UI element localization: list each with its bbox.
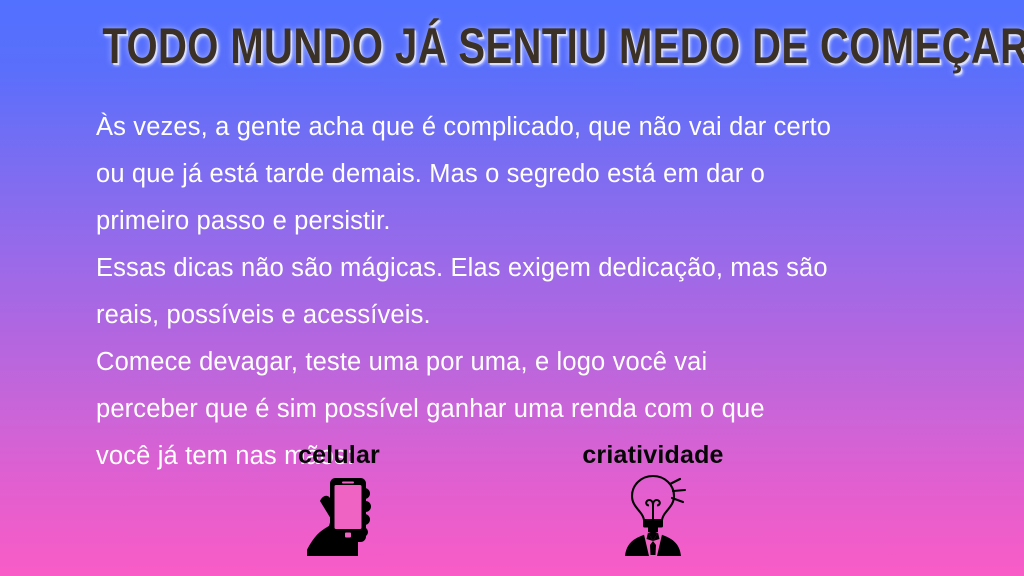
- body-line: perceber que é sim possível ganhar uma r…: [96, 386, 976, 433]
- body-copy: Às vezes, a gente acha que é complicado,…: [96, 104, 976, 480]
- icon-label-criatividade: criatividade: [533, 440, 773, 470]
- body-line: primeiro passo e persistir.: [96, 198, 976, 245]
- body-line: Comece devagar, teste uma por uma, e log…: [96, 339, 976, 386]
- body-line: Às vezes, a gente acha que é complicado,…: [96, 104, 976, 151]
- lightbulb-head-person-icon: [533, 474, 773, 564]
- icon-block-criatividade: criatividade: [533, 440, 773, 564]
- icon-label-celular: celular: [219, 440, 459, 470]
- icon-row: celular: [0, 440, 1024, 576]
- slide-canvas: TODO MUNDO JÁ SENTIU MEDO DE COMEÇAR. Às…: [0, 0, 1024, 576]
- body-line: ou que já está tarde demais. Mas o segre…: [96, 151, 976, 198]
- page-title: TODO MUNDO JÁ SENTIU MEDO DE COMEÇAR.: [102, 16, 921, 76]
- icon-block-celular: celular: [219, 440, 459, 564]
- body-line: Essas dicas não são mágicas. Elas exigem…: [96, 245, 976, 292]
- hand-holding-phone-icon: [219, 474, 459, 564]
- body-line: reais, possíveis e acessíveis.: [96, 292, 976, 339]
